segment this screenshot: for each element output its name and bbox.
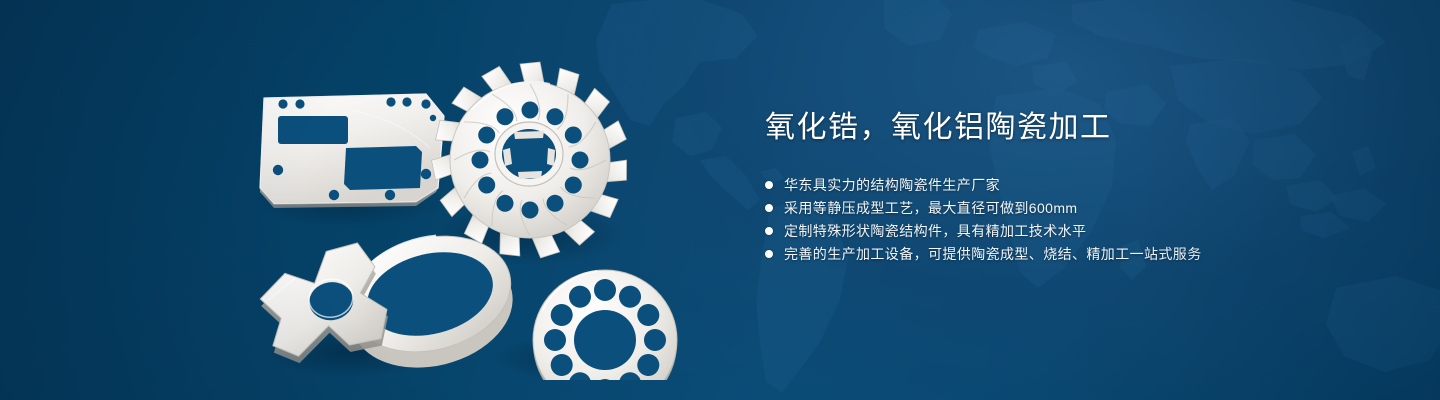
ceramic-perforated-ring-part: [533, 270, 677, 380]
ceramic-plate-part: [260, 94, 444, 208]
promo-banner: 氧化锆，氧化铝陶瓷加工 华东具实力的结构陶瓷件生产厂家 采用等静压成型工艺，最大…: [0, 0, 1440, 400]
list-item-label: 华东具实力的结构陶瓷件生产厂家: [784, 174, 1000, 196]
bullet-dot-icon: [765, 250, 773, 258]
page-title: 氧化锆，氧化铝陶瓷加工: [765, 108, 1385, 148]
list-item: 定制特殊形状陶瓷结构件，具有精加工技术水平: [765, 220, 1385, 242]
list-item-label: 定制特殊形状陶瓷结构件，具有精加工技术水平: [784, 220, 1086, 242]
ceramic-products-image: [230, 40, 730, 380]
bullet-dot-icon: [765, 227, 773, 235]
list-item: 华东具实力的结构陶瓷件生产厂家: [765, 174, 1385, 196]
list-item-label: 完善的生产加工设备，可提供陶瓷成型、烧结、精加工一站式服务: [784, 243, 1202, 265]
list-item: 采用等静压成型工艺，最大直径可做到600mm: [765, 197, 1385, 219]
list-item: 完善的生产加工设备，可提供陶瓷成型、烧结、精加工一站式服务: [765, 243, 1385, 265]
feature-list: 华东具实力的结构陶瓷件生产厂家 采用等静压成型工艺，最大直径可做到600mm 定…: [765, 174, 1385, 265]
bullet-dot-icon: [765, 204, 773, 212]
list-item-label: 采用等静压成型工艺，最大直径可做到600mm: [784, 197, 1077, 219]
banner-text-block: 氧化锆，氧化铝陶瓷加工 华东具实力的结构陶瓷件生产厂家 采用等静压成型工艺，最大…: [765, 108, 1385, 266]
bullet-dot-icon: [765, 181, 773, 189]
